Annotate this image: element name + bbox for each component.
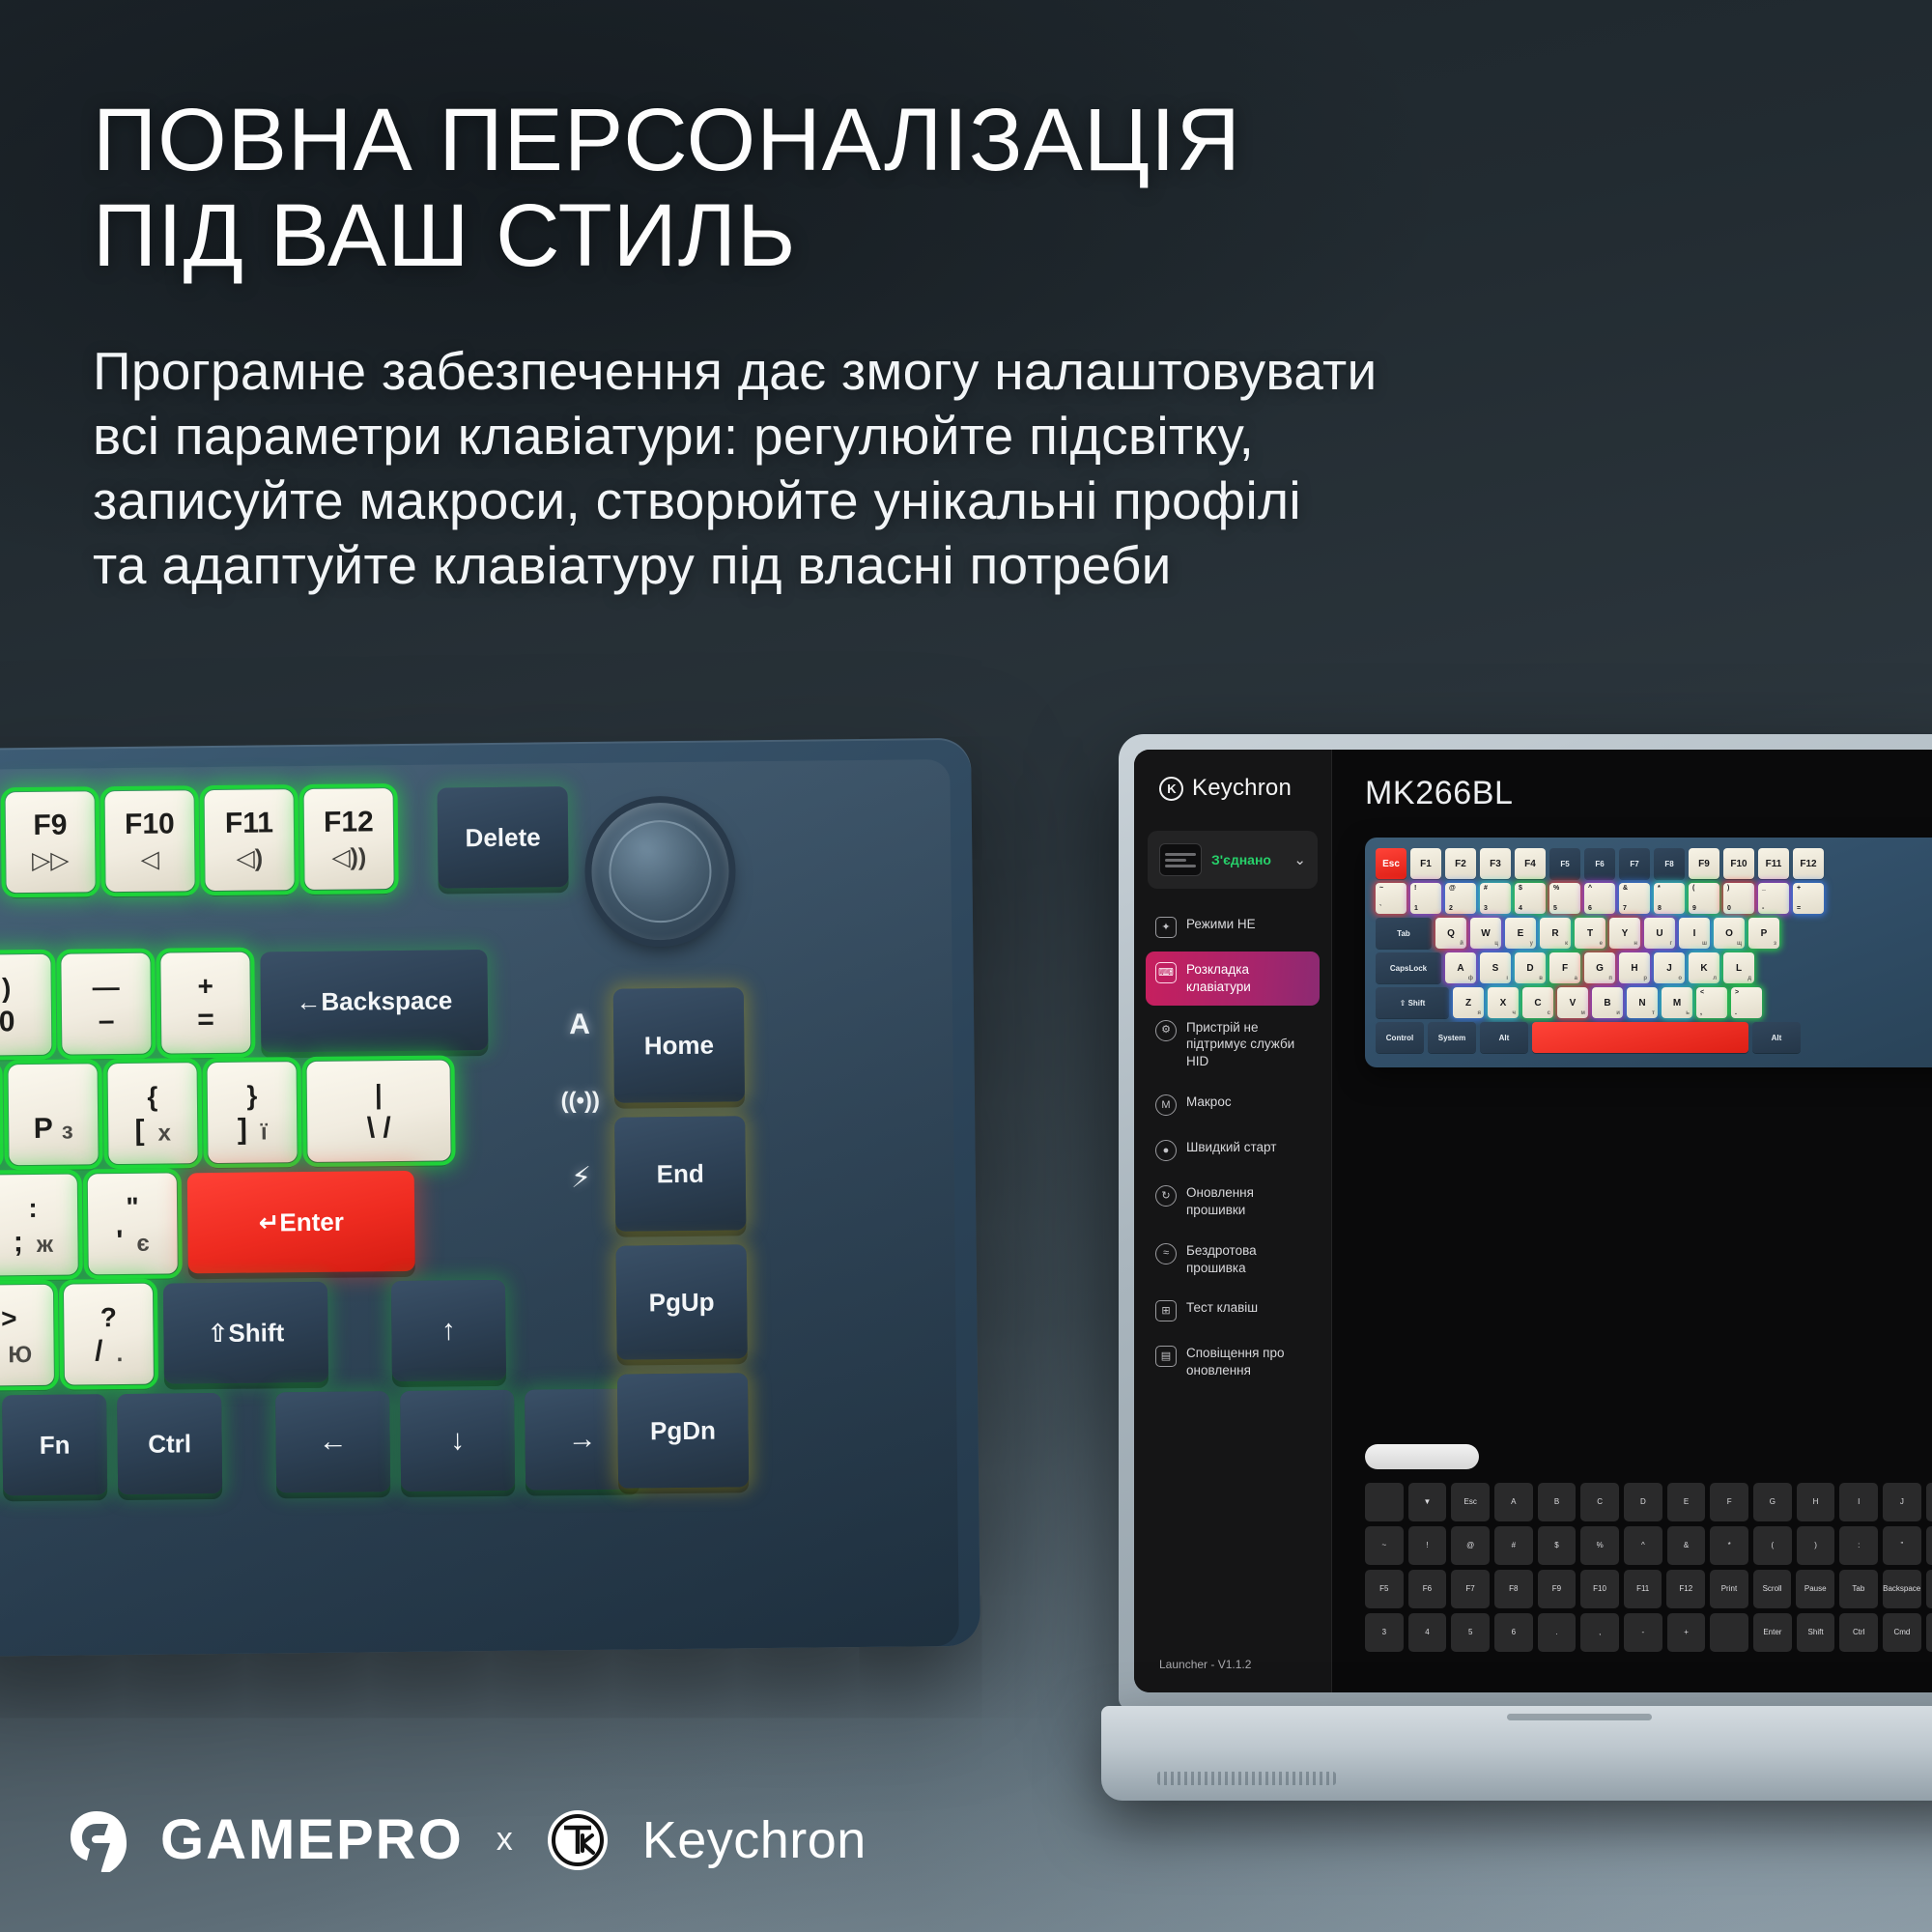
picker-key[interactable]: F9: [1538, 1570, 1577, 1608]
device-icon: ⚙: [1155, 1020, 1177, 1041]
osk-number-row: ~`!1@2#3$4%5^6&7*8(9)0_-+=: [1376, 883, 1932, 914]
osk-shift-row: ⇧ ShiftZяXчCсVмBиNтMь<,>.: [1376, 987, 1932, 1018]
osk-key-`[interactable]: ~`: [1376, 883, 1406, 914]
wireless-icon: ≈: [1155, 1243, 1177, 1264]
macro-icon: M: [1155, 1094, 1177, 1116]
light-icon: ✦: [1155, 917, 1177, 938]
osk-key-c[interactable]: Cс: [1522, 987, 1553, 1018]
osk-key-f4[interactable]: F4: [1515, 848, 1546, 879]
picker-key[interactable]: Ins: [1926, 1570, 1932, 1608]
osk-qwerty-row: TabQйWцEуRкTеYнUгIшOщPз: [1376, 918, 1932, 949]
osk-key--[interactable]: _-: [1758, 883, 1789, 914]
osk-key-f1[interactable]: F1: [1410, 848, 1441, 879]
led-indicator-strip: A ((•)) ⚡: [560, 1009, 601, 1195]
keyboard-nav-cluster: Home End PgUp PgDn: [604, 978, 759, 1498]
gamepro-label: GAMEPRO: [160, 1807, 464, 1872]
osk-key-4[interactable]: $4: [1515, 883, 1546, 914]
osk-key-f10[interactable]: F10: [1723, 848, 1754, 879]
osk-key-r[interactable]: Rк: [1540, 918, 1571, 949]
key-home[interactable]: Home: [613, 987, 745, 1102]
picker-key[interactable]: @: [1451, 1526, 1490, 1565]
osk-key-y[interactable]: Yн: [1609, 918, 1640, 949]
osk-key-6[interactable]: ^6: [1584, 883, 1615, 914]
laptop-lid: K Keychron З'єднано ⌄ ✦ Режими НЕ: [1119, 734, 1932, 1710]
key-equal[interactable]: + =: [160, 952, 250, 1054]
device-model-title: MK266BL: [1365, 775, 1932, 812]
picker-key[interactable]: F12: [1666, 1570, 1705, 1608]
key-delete[interactable]: Delete: [438, 786, 569, 888]
key-pgup[interactable]: PgUp: [616, 1244, 748, 1359]
picker-row: ▼EscABCDEFGHIJKL: [1365, 1483, 1932, 1521]
osk-key-d[interactable]: Dв: [1515, 952, 1546, 983]
picker-key[interactable]: ": [1883, 1526, 1921, 1565]
osk-key-f2[interactable]: F2: [1445, 848, 1476, 879]
keyboard-shift-row: ь < , Б > . Ю ?: [0, 1280, 506, 1388]
osk-home-row: CapsLockAфSіDвFаGпHрJоKлLд: [1376, 952, 1932, 983]
picker-key[interactable]: F5: [1365, 1570, 1404, 1608]
physical-keyboard: 8 ▷|| F9 ▷▷ F10 ◁ F11 ◁) F12: [0, 738, 980, 1658]
picker-key[interactable]: Enter: [1753, 1613, 1792, 1652]
osk-key-z[interactable]: Zя: [1453, 987, 1484, 1018]
osk-key-f7[interactable]: F7: [1619, 848, 1650, 879]
picker-key[interactable]: [1365, 1483, 1404, 1521]
headline-block: ПОВНА ПЕРСОНАЛІЗАЦІЯ ПІД ВАШ СТИЛЬ Прогр…: [93, 93, 1793, 598]
key-enter[interactable]: ↵Enter: [187, 1171, 415, 1273]
osk-key-e[interactable]: Eу: [1505, 918, 1536, 949]
picker-key[interactable]: E: [1667, 1483, 1706, 1521]
laptop: K Keychron З'єднано ⌄ ✦ Режими НЕ: [1101, 734, 1932, 1826]
key-f10[interactable]: F10 ◁: [105, 790, 195, 892]
key-arrow-up[interactable]: ↑: [391, 1280, 506, 1381]
laptop-vent: [1157, 1772, 1336, 1785]
osk-key-system[interactable]: System: [1428, 1022, 1476, 1053]
osk-key-u[interactable]: Uг: [1644, 918, 1675, 949]
key-ctrl[interactable]: Ctrl: [117, 1393, 222, 1494]
sidebar-item-update-notice[interactable]: ▤ Сповіщення про оновлення: [1146, 1335, 1320, 1389]
picker-key[interactable]: Tab: [1839, 1570, 1878, 1608]
picker-key[interactable]: B: [1538, 1483, 1577, 1521]
key-backslash[interactable]: | \ /: [307, 1060, 451, 1162]
update-icon: ↻: [1155, 1185, 1177, 1207]
osk-key-period[interactable]: >.: [1731, 987, 1762, 1018]
picker-key[interactable]: 6: [1494, 1613, 1533, 1652]
picker-key[interactable]: Print: [1710, 1570, 1748, 1608]
app-sidebar: K Keychron З'єднано ⌄ ✦ Режими НЕ: [1134, 750, 1332, 1692]
picker-key[interactable]: #: [1494, 1526, 1533, 1565]
picker-key[interactable]: Shift: [1797, 1613, 1835, 1652]
chevron-down-icon: ⌄: [1293, 851, 1306, 868]
picker-scroll-handle[interactable]: [1365, 1444, 1479, 1469]
picker-key[interactable]: $: [1538, 1526, 1577, 1565]
key-backspace[interactable]: ←Backspace: [260, 950, 488, 1052]
picker-key[interactable]: -: [1624, 1613, 1662, 1652]
keychron-logo-icon-footer: [546, 1808, 610, 1872]
osk-key-k[interactable]: Kл: [1689, 952, 1719, 983]
osk-key-b[interactable]: Bи: [1592, 987, 1623, 1018]
wireless-led-icon: ((•)): [560, 1088, 600, 1115]
keyboard-function-row: 8 ▷|| F9 ▷▷ F10 ◁ F11 ◁) F12: [0, 786, 569, 895]
quickstart-icon: ●: [1155, 1140, 1177, 1161]
laptop-base: [1101, 1706, 1932, 1801]
picker-key[interactable]: &: [1667, 1526, 1706, 1565]
picker-key[interactable]: *: [1710, 1526, 1748, 1565]
picker-key[interactable]: ^: [1624, 1526, 1662, 1565]
key-bracket-left[interactable]: { [ х: [108, 1063, 198, 1164]
osk-key-comma[interactable]: <,: [1696, 987, 1727, 1018]
key-fn[interactable]: Fn: [2, 1394, 107, 1495]
device-profile-selector[interactable]: З'єднано ⌄: [1148, 831, 1318, 889]
sidebar-nav-list: ✦ Режими НЕ ⌨ Розкладка клавіатури ⚙ При…: [1134, 906, 1331, 1658]
osk-key-5[interactable]: %5: [1549, 883, 1580, 914]
picker-key[interactable]: F8: [1494, 1570, 1533, 1608]
osk-key-9[interactable]: (9: [1689, 883, 1719, 914]
picker-key[interactable]: !: [1408, 1526, 1447, 1565]
sidebar-item-wireless-firmware[interactable]: ≈ Бездротова прошивка: [1146, 1233, 1320, 1287]
app-main-panel: MK266BL EscF1F2F3F4F5F6F7F8F9F10F11F12 ~…: [1332, 750, 1932, 1692]
picker-key[interactable]: H: [1797, 1483, 1835, 1521]
key-picker-panel: ▼EscABCDEFGHIJKL~!@#$%^&*():"~|F5F6F7F8F…: [1365, 1444, 1932, 1652]
key-f9[interactable]: F9 ▷▷: [6, 791, 96, 893]
picker-key[interactable]: F7: [1451, 1570, 1490, 1608]
keyboard-icon: ⌨: [1155, 962, 1177, 983]
osk-key-0[interactable]: )0: [1723, 883, 1754, 914]
keyboard-plate: 8 ▷|| F9 ▷▷ F10 ◁ F11 ◁) F12: [0, 782, 941, 1619]
keyboard-number-row: ( 9 ) 0 — – + = ←Backspace: [0, 950, 488, 1057]
keyboard-home-row: K л L д : ; ж " ': [0, 1171, 415, 1278]
key-arrow-left[interactable]: ←: [275, 1391, 390, 1492]
osk-key-m[interactable]: Mь: [1662, 987, 1692, 1018]
picker-key[interactable]: ,: [1580, 1613, 1619, 1652]
osk-key-alt-right[interactable]: Alt: [1752, 1022, 1801, 1053]
keyboard-qwerty-row: ш O щ P з { [ х }: [0, 1060, 451, 1167]
key-f12[interactable]: F12 ◁)): [304, 788, 394, 890]
picker-key[interactable]: .: [1538, 1613, 1577, 1652]
osk-key-tab[interactable]: Tab: [1376, 918, 1432, 949]
key-period[interactable]: > . Ю: [0, 1285, 54, 1386]
osk-key-esc[interactable]: Esc: [1376, 848, 1406, 879]
picker-row: ~!@#$%^&*():"~|: [1365, 1526, 1932, 1565]
footer-logos: GAMEPRO x Keychron: [68, 1807, 867, 1872]
connection-status-badge: З'єднано: [1211, 852, 1284, 867]
picker-key[interactable]: F: [1710, 1483, 1748, 1521]
picker-key-grid: ▼EscABCDEFGHIJKL~!@#$%^&*():"~|F5F6F7F8F…: [1365, 1483, 1932, 1652]
osk-key-i[interactable]: Iш: [1679, 918, 1710, 949]
picker-key[interactable]: %: [1580, 1526, 1619, 1565]
key-slash[interactable]: ? / .: [64, 1284, 154, 1385]
page-subtitle: Програмне забезпечення дає змогу налашто…: [93, 339, 1793, 598]
sidebar-item-keyboard-layout[interactable]: ⌨ Розкладка клавіатури: [1146, 952, 1320, 1006]
sidebar-item-quickstart[interactable]: ● Швидкий старт: [1146, 1129, 1320, 1171]
osk-key-f9[interactable]: F9: [1689, 848, 1719, 879]
key-bracket-right[interactable]: } ] ї: [208, 1062, 298, 1163]
osk-key-f11[interactable]: F11: [1758, 848, 1789, 879]
key-0[interactable]: ) 0: [0, 954, 51, 1056]
key-semicolon[interactable]: : ; ж: [0, 1175, 78, 1276]
osk-key-f12[interactable]: F12: [1793, 848, 1824, 879]
osk-key-v[interactable]: Vм: [1557, 987, 1588, 1018]
picker-key[interactable]: (: [1753, 1526, 1792, 1565]
sidebar-item-key-test[interactable]: ⊞ Тест клавіш: [1146, 1290, 1320, 1331]
app-version-label: Launcher - V1.1.2: [1134, 1658, 1331, 1692]
key-f11[interactable]: F11 ◁): [205, 789, 295, 891]
keyboard-bottom-row: Alt Fn Ctrl ← ↓ →: [0, 1388, 639, 1498]
osk-key-f6[interactable]: F6: [1584, 848, 1615, 879]
osk-key-n[interactable]: Nт: [1627, 987, 1658, 1018]
app-brand-label: Keychron: [1192, 775, 1292, 802]
osk-key-8[interactable]: *8: [1654, 883, 1685, 914]
picker-key[interactable]: ~: [1926, 1526, 1932, 1565]
picker-key[interactable]: F11: [1624, 1570, 1662, 1608]
osk-key-3[interactable]: #3: [1480, 883, 1511, 914]
osk-key-1[interactable]: !1: [1410, 883, 1441, 914]
picker-key[interactable]: Scroll: [1753, 1570, 1792, 1608]
keychron-logo-icon: K: [1159, 777, 1183, 801]
picker-key[interactable]: Esc: [1926, 1613, 1932, 1652]
picker-key[interactable]: K: [1926, 1483, 1932, 1521]
osk-key-q[interactable]: Qй: [1435, 918, 1466, 949]
picker-key[interactable]: D: [1624, 1483, 1662, 1521]
osk-key-a[interactable]: Aф: [1445, 952, 1476, 983]
picker-key[interactable]: :: [1839, 1526, 1878, 1565]
picker-key[interactable]: I: [1839, 1483, 1878, 1521]
osk-key-control[interactable]: Control: [1376, 1022, 1424, 1053]
osk-key-space[interactable]: [1532, 1022, 1748, 1053]
osk-key-s[interactable]: Sі: [1480, 952, 1511, 983]
picker-key[interactable]: C: [1580, 1483, 1619, 1521]
picker-key[interactable]: F6: [1408, 1570, 1447, 1608]
page-title: ПОВНА ПЕРСОНАЛІЗАЦІЯ ПІД ВАШ СТИЛЬ: [93, 93, 1793, 285]
rotary-knob[interactable]: [591, 802, 729, 940]
picker-key[interactable]: [1710, 1613, 1748, 1652]
picker-key[interactable]: ): [1797, 1526, 1835, 1565]
osk-key-f3[interactable]: F3: [1480, 848, 1511, 879]
picker-key[interactable]: Esc: [1451, 1483, 1490, 1521]
osk-key-shift-left[interactable]: ⇧ Shift: [1376, 987, 1449, 1018]
gamepro-logo-icon: [68, 1808, 128, 1872]
osk-key-capslock[interactable]: CapsLock: [1376, 952, 1441, 983]
osk-key-f5[interactable]: F5: [1549, 848, 1580, 879]
picker-row: F5F6F7F8F9F10F11F12PrintScrollPauseTabBa…: [1365, 1570, 1932, 1608]
picker-key[interactable]: F10: [1580, 1570, 1619, 1608]
osk-key-f[interactable]: Fа: [1549, 952, 1580, 983]
battery-led-icon: ⚡: [571, 1161, 591, 1195]
picker-key[interactable]: Cmd: [1883, 1613, 1921, 1652]
picker-key[interactable]: 4: [1408, 1613, 1447, 1652]
picker-key[interactable]: +: [1667, 1613, 1706, 1652]
osk-key-alt[interactable]: Alt: [1480, 1022, 1528, 1053]
laptop-screen: K Keychron З'єднано ⌄ ✦ Режими НЕ: [1134, 750, 1932, 1692]
key-end[interactable]: End: [614, 1116, 746, 1231]
osk-key-=[interactable]: +=: [1793, 883, 1824, 914]
osk-key-j[interactable]: Jо: [1654, 952, 1685, 983]
osk-key-t[interactable]: Tе: [1575, 918, 1605, 949]
key-minus[interactable]: — –: [61, 953, 151, 1055]
notify-icon: ▤: [1155, 1346, 1177, 1367]
key-right-shift[interactable]: ⇧Shift: [163, 1282, 328, 1384]
picker-key[interactable]: ~: [1365, 1526, 1404, 1565]
picker-key[interactable]: Backspace: [1883, 1570, 1921, 1608]
device-thumbnail-icon: [1159, 843, 1202, 876]
key-arrow-down[interactable]: ↓: [400, 1390, 515, 1492]
sidebar-item-firmware-update[interactable]: ↻ Оновлення прошивки: [1146, 1175, 1320, 1229]
osk-key-o[interactable]: Oщ: [1714, 918, 1745, 949]
picker-key[interactable]: A: [1494, 1483, 1533, 1521]
sidebar-item-hid-device[interactable]: ⚙ Пристрій не підтримує служби HID: [1146, 1009, 1320, 1080]
logo-separator: x: [497, 1821, 513, 1859]
key-pgdn[interactable]: PgDn: [617, 1373, 749, 1488]
app-brand: K Keychron: [1134, 775, 1331, 802]
osk-key-x[interactable]: Xч: [1488, 987, 1519, 1018]
picker-row: 3456.,-+EnterShiftCtrlCmdEscCaps: [1365, 1613, 1932, 1652]
picker-key[interactable]: J: [1883, 1483, 1921, 1521]
osk-key-2[interactable]: @2: [1445, 883, 1476, 914]
picker-key[interactable]: 3: [1365, 1613, 1404, 1652]
osk-key-g[interactable]: Gп: [1584, 952, 1615, 983]
picker-key[interactable]: Ctrl: [1839, 1613, 1878, 1652]
picker-key[interactable]: ▼: [1408, 1483, 1447, 1521]
keytest-icon: ⊞: [1155, 1300, 1177, 1321]
osk-key-l[interactable]: Lд: [1723, 952, 1754, 983]
sidebar-item-lighting[interactable]: ✦ Режими НЕ: [1146, 906, 1320, 948]
picker-key[interactable]: 5: [1451, 1613, 1490, 1652]
osk-key-p[interactable]: Pз: [1748, 918, 1779, 949]
osk-function-row: EscF1F2F3F4F5F6F7F8F9F10F11F12: [1376, 848, 1932, 879]
picker-key[interactable]: G: [1753, 1483, 1792, 1521]
picker-key[interactable]: Pause: [1796, 1570, 1834, 1608]
osk-key-w[interactable]: Wц: [1470, 918, 1501, 949]
osk-key-f8[interactable]: F8: [1654, 848, 1685, 879]
sidebar-item-macro[interactable]: M Макрос: [1146, 1084, 1320, 1125]
osk-key-7[interactable]: &7: [1619, 883, 1650, 914]
promo-poster: ПОВНА ПЕРСОНАЛІЗАЦІЯ ПІД ВАШ СТИЛЬ Прогр…: [0, 0, 1932, 1932]
key-p[interactable]: P з: [9, 1064, 99, 1165]
osk-bottom-row: ControlSystemAltAlt: [1376, 1022, 1932, 1053]
osk-key-h[interactable]: Hр: [1619, 952, 1650, 983]
caps-lock-led-icon: A: [569, 1009, 590, 1041]
key-quote[interactable]: " ' є: [88, 1173, 178, 1274]
keychron-label: Keychron: [642, 1810, 867, 1870]
onscreen-keyboard: EscF1F2F3F4F5F6F7F8F9F10F11F12 ~`!1@2#3$…: [1365, 838, 1932, 1067]
